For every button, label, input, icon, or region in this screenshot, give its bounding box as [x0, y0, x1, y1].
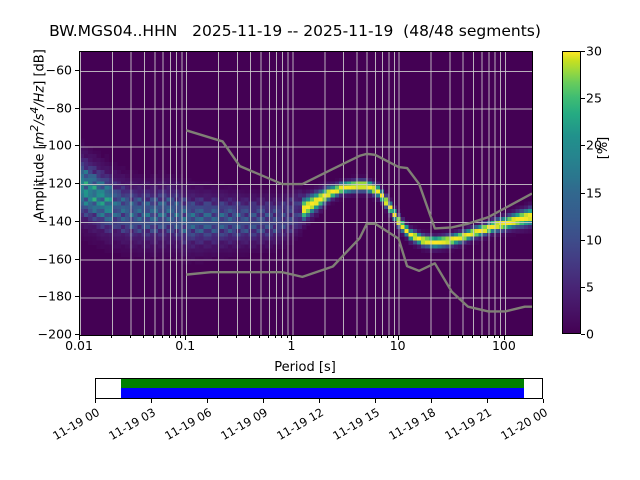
timeline-date-label: 11-20 00 — [489, 405, 550, 448]
timeline-tick-mark — [263, 399, 264, 403]
ppsd-canvas — [80, 52, 532, 335]
x-minor-tick — [355, 335, 356, 338]
x-tick-label: 100 — [492, 338, 516, 353]
x-tick-label: 0.01 — [65, 338, 93, 353]
colorbar-tick-mark — [581, 334, 585, 335]
colorbar-tick-mark — [581, 98, 585, 99]
x-tick-label: 0.1 — [175, 338, 195, 353]
x-tick-label: 1 — [287, 338, 295, 353]
colorbar-tick-label: 10 — [586, 232, 602, 247]
x-tick-mark — [79, 335, 80, 340]
x-minor-tick — [323, 335, 324, 338]
x-tick-mark — [398, 335, 399, 340]
x-axis-label: Period [s] — [79, 360, 531, 375]
y-tick-label: −200 — [8, 327, 72, 342]
colorbar-tick-label: 5 — [586, 279, 594, 294]
y-tick-label: −120 — [8, 176, 72, 191]
y-tick-label: −80 — [8, 100, 72, 115]
x-minor-tick — [366, 335, 367, 338]
x-minor-tick — [393, 335, 394, 338]
x-minor-tick — [175, 335, 176, 338]
colorbar — [562, 51, 581, 334]
colorbar-tick-label: 0 — [586, 327, 594, 342]
x-minor-tick — [281, 335, 282, 338]
timeline-tick-mark — [431, 399, 432, 403]
x-minor-tick — [180, 335, 181, 338]
timeline-date-label: 11-19 18 — [377, 405, 438, 448]
page-title: BW.MGS04..HHN 2025-11-19 -- 2025-11-19 (… — [0, 22, 590, 40]
timeline-date-label: 11-19 12 — [265, 405, 326, 448]
timeline-date-label: 11-19 03 — [97, 405, 158, 448]
x-minor-tick — [462, 335, 463, 338]
timeline-tick-mark — [95, 399, 96, 403]
x-minor-tick — [387, 335, 388, 338]
y-tick-label: −180 — [8, 289, 72, 304]
x-minor-tick — [153, 335, 154, 338]
x-minor-tick — [268, 335, 269, 338]
coverage-bar-bottom — [121, 388, 524, 399]
y-tick-mark — [75, 70, 79, 71]
y-tick-mark — [75, 296, 79, 297]
x-minor-tick — [249, 335, 250, 338]
y-tick-mark — [75, 183, 79, 184]
x-minor-tick — [275, 335, 276, 338]
timeline-tick-mark — [319, 399, 320, 403]
timeline-date-label: 11-19 09 — [209, 405, 270, 448]
ppsd-plot-area[interactable] — [79, 51, 533, 336]
y-tick-mark — [75, 259, 79, 260]
y-tick-label: −100 — [8, 138, 72, 153]
colorbar-tick-mark — [581, 51, 585, 52]
timeline-date-label: 11-19 21 — [433, 405, 494, 448]
timeline-date-label: 11-19 00 — [41, 405, 102, 448]
x-minor-tick — [499, 335, 500, 338]
x-minor-tick — [217, 335, 218, 338]
timeline-tick-mark — [375, 399, 376, 403]
y-tick-mark — [75, 108, 79, 109]
colorbar-tick-mark — [581, 145, 585, 146]
x-minor-tick — [448, 335, 449, 338]
x-tick-mark — [185, 335, 186, 340]
y-tick-mark — [75, 221, 79, 222]
timeline-tick-mark — [207, 399, 208, 403]
coverage-timeline-strip[interactable] — [95, 378, 543, 399]
x-minor-tick — [487, 335, 488, 338]
y-tick-label: −60 — [8, 62, 72, 77]
colorbar-tick-mark — [581, 193, 585, 194]
colorbar-tick-label: 15 — [586, 185, 602, 200]
x-tick-mark — [291, 335, 292, 340]
x-minor-tick — [472, 335, 473, 338]
timeline-tick-mark — [487, 399, 488, 403]
x-minor-tick — [162, 335, 163, 338]
timeline-tick-mark — [543, 399, 544, 403]
colorbar-tick-label: 20 — [586, 138, 602, 153]
x-minor-tick — [236, 335, 237, 338]
x-minor-tick — [130, 335, 131, 338]
timeline-date-label: 11-19 06 — [153, 405, 214, 448]
ppsd-figure: BW.MGS04..HHN 2025-11-19 -- 2025-11-19 (… — [0, 0, 640, 480]
x-minor-tick — [169, 335, 170, 338]
timeline-tick-mark — [151, 399, 152, 403]
ppsd-histogram — [80, 52, 532, 335]
y-tick-mark — [75, 145, 79, 146]
x-minor-tick — [342, 335, 343, 338]
colorbar-tick-mark — [581, 287, 585, 288]
x-minor-tick — [143, 335, 144, 338]
x-minor-tick — [381, 335, 382, 338]
coverage-bar-top — [121, 379, 524, 388]
timeline-date-label: 11-19 15 — [321, 405, 382, 448]
x-minor-tick — [111, 335, 112, 338]
x-tick-mark — [504, 335, 505, 340]
colorbar-tick-label: 25 — [586, 91, 602, 106]
x-minor-tick — [494, 335, 495, 338]
y-tick-label: −160 — [8, 251, 72, 266]
x-tick-label: 10 — [390, 338, 406, 353]
x-minor-tick — [430, 335, 431, 338]
x-minor-tick — [287, 335, 288, 338]
colorbar-tick-label: 30 — [586, 44, 602, 59]
colorbar-tick-mark — [581, 240, 585, 241]
y-tick-label: −140 — [8, 213, 72, 228]
x-minor-tick — [259, 335, 260, 338]
x-minor-tick — [374, 335, 375, 338]
x-minor-tick — [480, 335, 481, 338]
